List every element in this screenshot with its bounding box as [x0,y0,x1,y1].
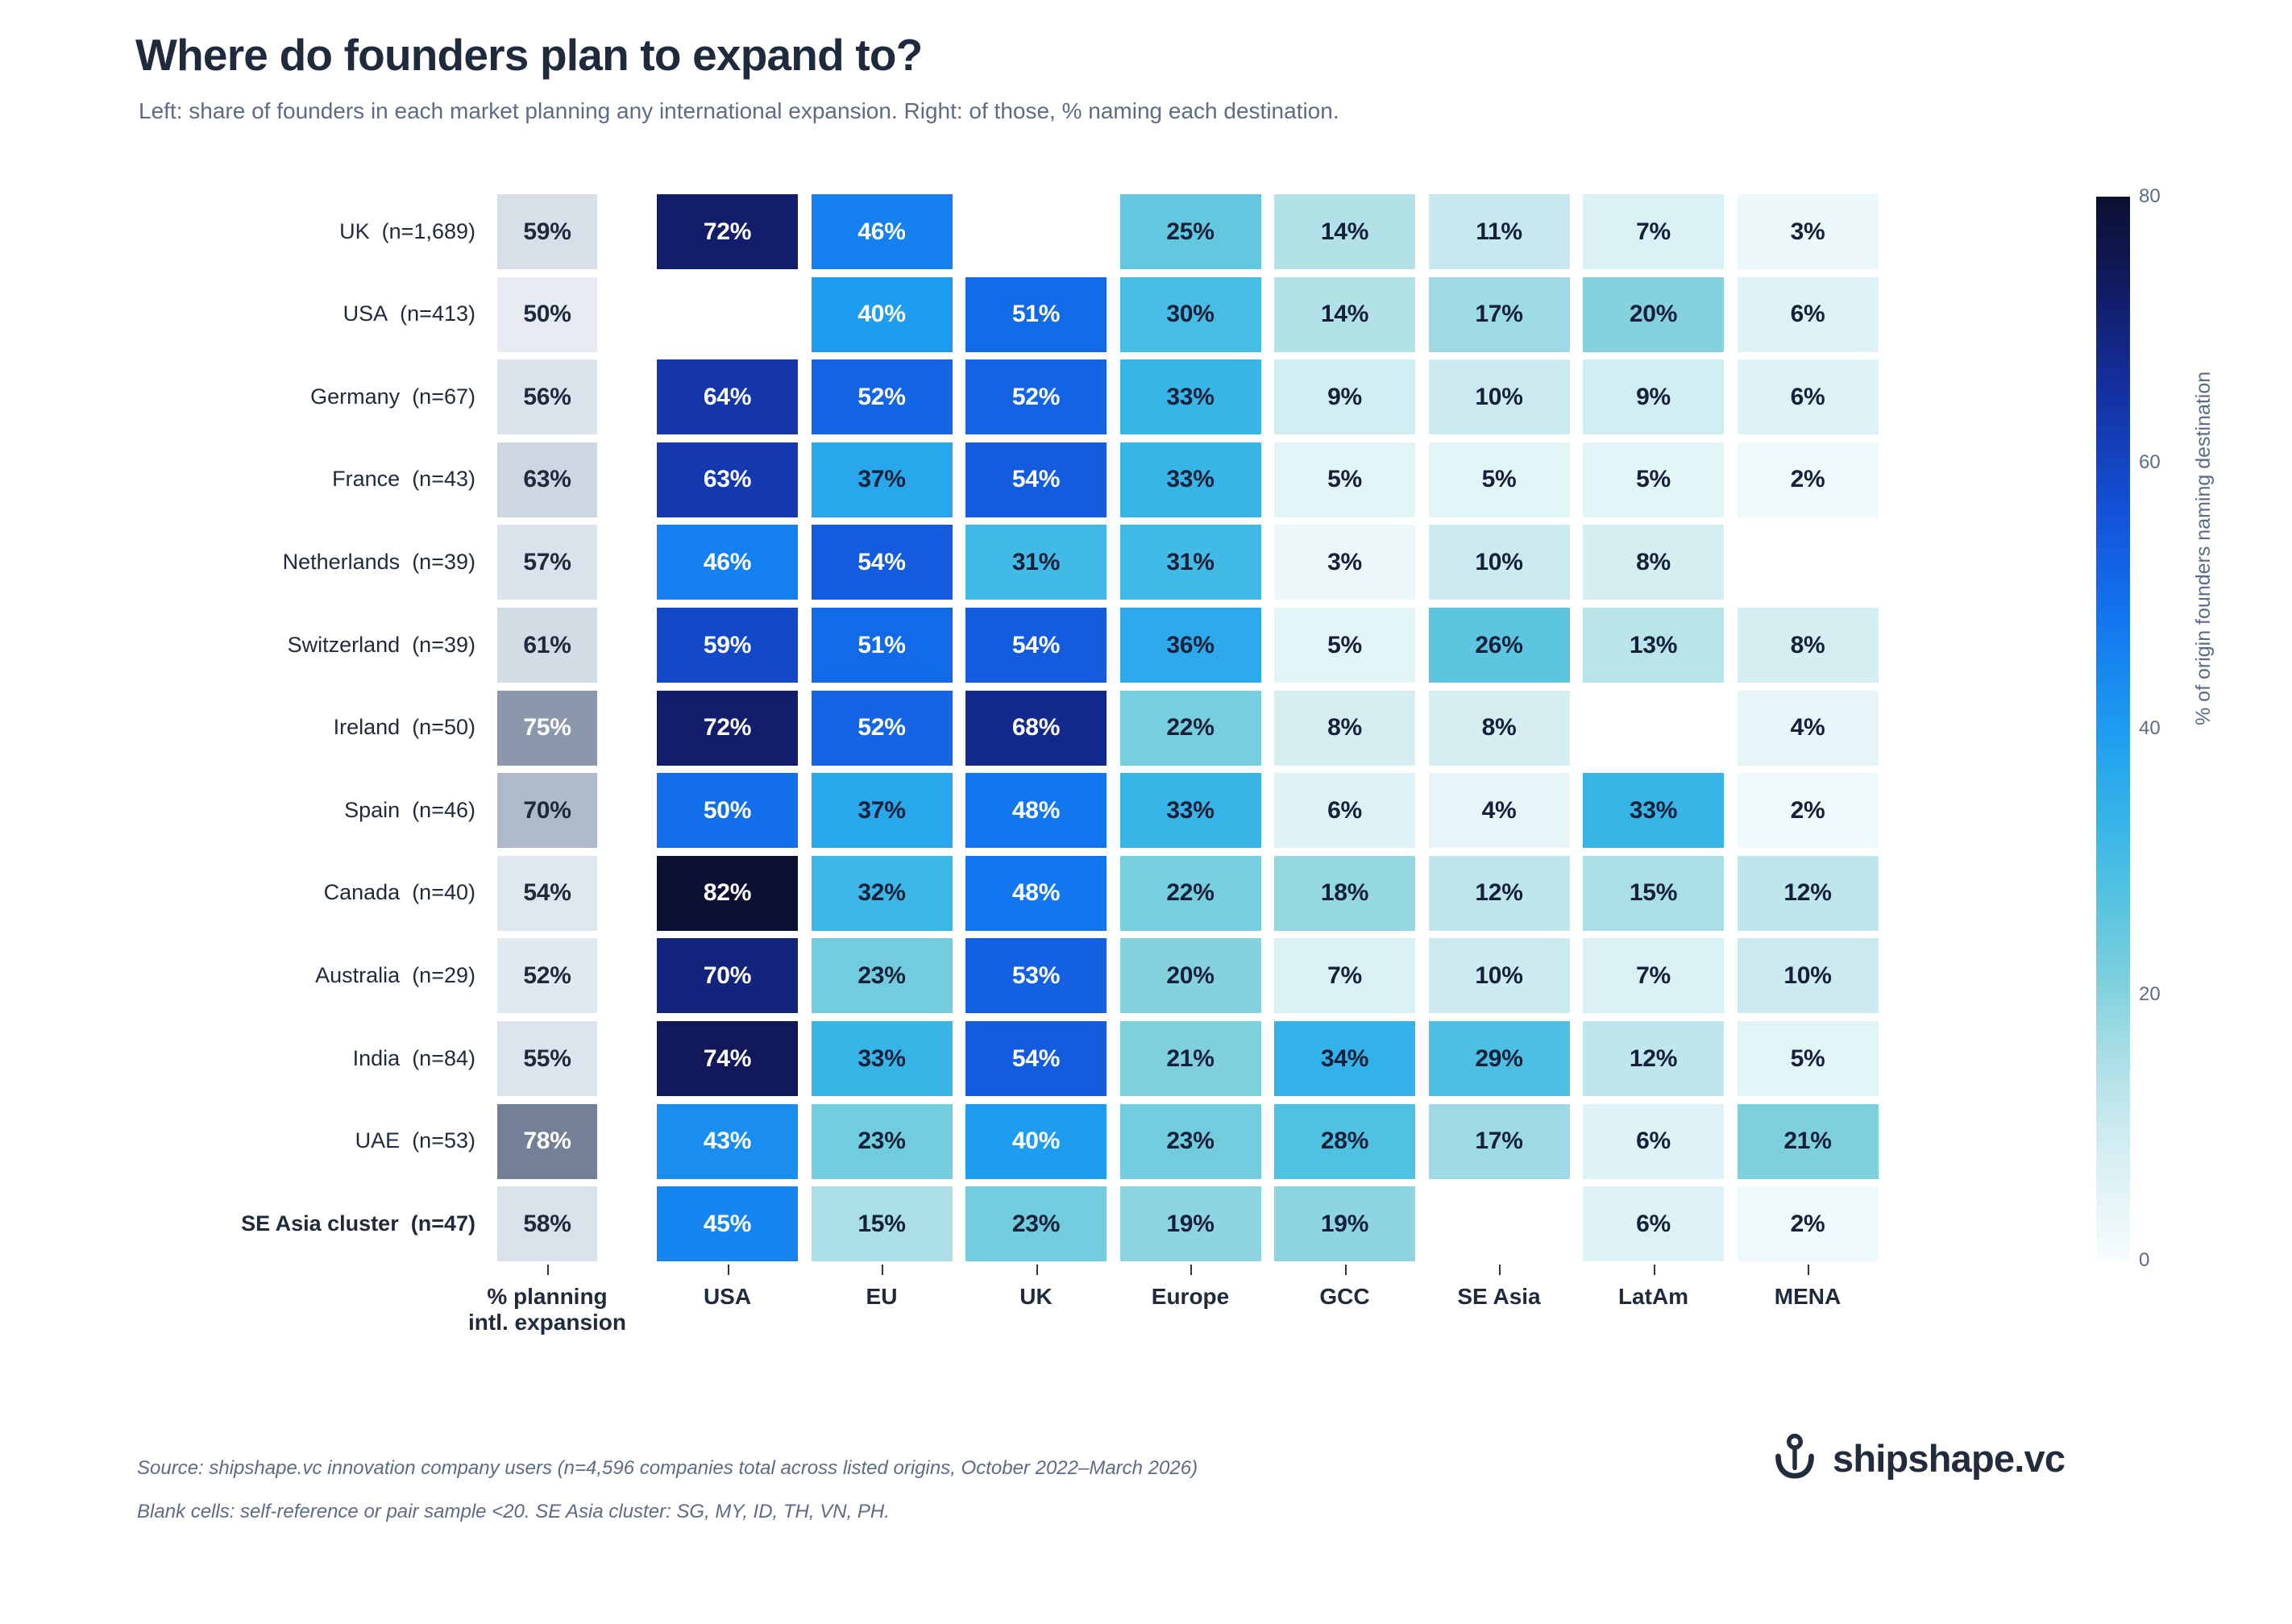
blank-cells-note: Blank cells: self-reference or pair samp… [137,1501,890,1523]
heatmap-cell[interactable]: 19% [1120,1186,1261,1261]
row-origin: Spain [344,798,400,822]
heatmap-cell[interactable]: 22% [1120,856,1261,931]
heatmap-cell[interactable]: 54% [812,525,953,600]
heatmap-cell[interactable]: 18% [1274,856,1415,931]
heatmap-cell-blank[interactable] [1583,691,1724,766]
heatmap-cell[interactable]: 52% [812,359,953,434]
heatmap-cell[interactable]: 4% [1738,691,1879,766]
heatmap-cell[interactable]: 52% [812,691,953,766]
heatmap-cell[interactable]: 17% [1429,277,1570,352]
heatmap-cell[interactable]: 36% [1120,608,1261,683]
heatmap-cell[interactable]: 6% [1583,1104,1724,1179]
column-header-mena: MENA [1711,1284,1904,1309]
heatmap-cell[interactable]: 6% [1738,359,1879,434]
heatmap-cell[interactable]: 64% [657,359,798,434]
axis-tick [547,1265,549,1275]
heatmap-cell[interactable]: 10% [1429,938,1570,1013]
row-sample-size: (n=40) [412,880,475,904]
heatmap-cell[interactable]: 21% [1120,1021,1261,1096]
heatmap-cell[interactable]: 20% [1120,938,1261,1013]
heatmap-cell[interactable]: 12% [1738,856,1879,931]
heatmap-cell[interactable]: 23% [812,1104,953,1179]
heatmap-cell[interactable]: 5% [1429,442,1570,517]
heatmap-cell[interactable]: 30% [1120,277,1261,352]
heatmap-cell[interactable]: 34% [1274,1021,1415,1096]
row-origin: Canada [324,880,401,904]
row-origin: Netherlands [283,550,401,574]
row-sample-size: (n=67) [412,384,475,409]
row-origin: India [353,1046,401,1070]
heatmap-cell[interactable]: 33% [1120,442,1261,517]
row-sample-size: (n=50) [412,715,475,739]
heatmap-cell[interactable]: 7% [1583,938,1724,1013]
colorbar-tick-label: 40 [2139,717,2161,740]
heatmap-cell[interactable]: 74% [657,1021,798,1096]
row-sample-size: (n=47) [411,1211,475,1236]
row-label-india: India (n=84) [97,1048,475,1070]
heatmap-cell[interactable]: 12% [1429,856,1570,931]
row-sample-size: (n=39) [412,550,475,574]
heatmap-cell[interactable]: 20% [1583,277,1724,352]
heatmap-cell[interactable]: 54% [965,442,1107,517]
row-origin: SE Asia cluster [241,1211,399,1236]
heatmap-cell[interactable]: 48% [965,856,1107,931]
heatmap-cell[interactable]: 51% [965,277,1107,352]
row-label-usa: USA (n=413) [97,303,475,325]
heatmap-cell[interactable]: 6% [1738,277,1879,352]
row-label-france: France (n=43) [97,468,475,490]
row-label-ireland: Ireland (n=50) [97,716,475,738]
row-label-spain: Spain (n=46) [97,800,475,821]
heatmap-cell[interactable]: 63% [657,442,798,517]
heatmap-cell-blank[interactable] [965,194,1107,269]
heatmap-cell[interactable]: 2% [1738,773,1879,848]
colorbar-axis-label: % of origin founders naming destination [2192,372,2215,725]
heatmap-cell[interactable]: 32% [812,856,953,931]
planning-cell[interactable]: 55% [497,1021,597,1096]
heatmap-cell[interactable]: 12% [1583,1021,1724,1096]
axis-tick [1190,1265,1192,1275]
heatmap-cell[interactable]: 6% [1274,773,1415,848]
colorbar-tick-label: 80 [2139,185,2161,208]
axis-tick [1654,1265,1655,1275]
heatmap-cell[interactable]: 33% [1120,773,1261,848]
heatmap-cell[interactable]: 37% [812,773,953,848]
heatmap-cell[interactable]: 45% [657,1186,798,1261]
heatmap-cell[interactable]: 43% [657,1104,798,1179]
planning-cell[interactable]: 50% [497,277,597,352]
heatmap-cell[interactable]: 4% [1429,773,1570,848]
heatmap-cell[interactable]: 9% [1583,359,1724,434]
heatmap-cell[interactable]: 15% [812,1186,953,1261]
row-origin: Australia [315,963,400,987]
heatmap-cell[interactable]: 11% [1429,194,1570,269]
row-label-uae: UAE (n=53) [97,1130,475,1152]
heatmap-cell[interactable]: 8% [1429,691,1570,766]
heatmap-cell[interactable]: 72% [657,691,798,766]
axis-tick [728,1265,729,1275]
row-sample-size: (n=43) [412,467,475,491]
row-sample-size: (n=29) [412,963,475,987]
heatmap-cell[interactable]: 59% [657,608,798,683]
heatmap-cell[interactable]: 10% [1738,938,1879,1013]
heatmap-cell[interactable]: 23% [1120,1104,1261,1179]
planning-cell[interactable]: 61% [497,608,597,683]
heatmap-cell[interactable]: 46% [657,525,798,600]
heatmap-cell[interactable]: 8% [1738,608,1879,683]
colorbar-gradient [2096,197,2130,1261]
heatmap-cell[interactable]: 31% [1120,525,1261,600]
row-sample-size: (n=53) [412,1128,475,1153]
heatmap-cell[interactable]: 23% [965,1186,1107,1261]
heatmap-cell[interactable]: 29% [1429,1021,1570,1096]
axis-tick [882,1265,883,1275]
heatmap-cell[interactable]: 68% [965,691,1107,766]
row-label-germany: Germany (n=67) [97,386,475,408]
heatmap-cell[interactable]: 17% [1429,1104,1570,1179]
row-sample-size: (n=84) [412,1046,475,1070]
planning-cell[interactable]: 70% [497,773,597,848]
heatmap-cell[interactable]: 5% [1274,442,1415,517]
heatmap-cell[interactable]: 13% [1583,608,1724,683]
page-title: Where do founders plan to expand to? [135,29,922,81]
heatmap-cell[interactable]: 5% [1274,608,1415,683]
row-sample-size: (n=413) [400,301,475,326]
heatmap-cell[interactable]: 82% [657,856,798,931]
heatmap-cell[interactable]: 21% [1738,1104,1879,1179]
heatmap-cell[interactable]: 3% [1274,525,1415,600]
row-sample-size: (n=39) [412,633,475,657]
planning-cell[interactable]: 54% [497,856,597,931]
heatmap-cell[interactable]: 15% [1583,856,1724,931]
heatmap-cell[interactable]: 2% [1738,442,1879,517]
heatmap-cell[interactable]: 5% [1583,442,1724,517]
heatmap-cell[interactable]: 48% [965,773,1107,848]
colorbar-tick-label: 0 [2139,1249,2149,1272]
colorbar-tick-label: 20 [2139,983,2161,1006]
heatmap-cell[interactable]: 54% [965,1021,1107,1096]
heatmap-cell[interactable]: 52% [965,359,1107,434]
header-line-2: intl. expansion [426,1310,668,1335]
heatmap-cell[interactable]: 28% [1274,1104,1415,1179]
row-origin: UAE [355,1128,401,1153]
heatmap-cell[interactable]: 19% [1274,1186,1415,1261]
heatmap-cell[interactable]: 3% [1738,194,1879,269]
planning-cell[interactable]: 75% [497,691,597,766]
heatmap-cell[interactable]: 40% [965,1104,1107,1179]
heatmap-cell[interactable]: 72% [657,194,798,269]
heatmap-cell[interactable]: 26% [1429,608,1570,683]
planning-cell[interactable]: 58% [497,1186,597,1261]
heatmap-cell[interactable]: 14% [1274,277,1415,352]
heatmap-cell[interactable]: 40% [812,277,953,352]
heatmap-cell[interactable]: 33% [1120,359,1261,434]
planning-cell[interactable]: 57% [497,525,597,600]
heatmap-cell[interactable]: 7% [1583,194,1724,269]
row-sample-size: (n=1,689) [382,219,475,243]
heatmap-cell-blank[interactable] [1429,1186,1570,1261]
heatmap-cell[interactable]: 10% [1429,359,1570,434]
axis-tick [1036,1265,1038,1275]
anchor-icon [1771,1433,1818,1484]
row-origin: Germany [310,384,400,409]
planning-cell[interactable]: 52% [497,938,597,1013]
heatmap-cell[interactable]: 10% [1429,525,1570,600]
heatmap-cell[interactable]: 14% [1274,194,1415,269]
heatmap-cell[interactable]: 33% [812,1021,953,1096]
heatmap-cell[interactable]: 2% [1738,1186,1879,1261]
row-label-switzerland: Switzerland (n=39) [97,634,475,656]
planning-cell[interactable]: 56% [497,359,597,434]
heatmap-cell[interactable]: 50% [657,773,798,848]
axis-tick [1345,1265,1347,1275]
heatmap-cell[interactable]: 5% [1738,1021,1879,1096]
row-label-uk: UK (n=1,689) [97,221,475,243]
row-label-netherlands: Netherlands (n=39) [97,551,475,573]
axis-tick [1499,1265,1501,1275]
heatmap-cell[interactable]: 6% [1583,1186,1724,1261]
row-origin: Switzerland [288,633,401,657]
row-origin: France [332,467,400,491]
heatmap-cell[interactable]: 7% [1274,938,1415,1013]
heatmap-cell[interactable]: 33% [1583,773,1724,848]
colorbar-tick-label: 60 [2139,451,2161,474]
row-label-se-asia-cluster: SE Asia cluster (n=47) [97,1213,475,1235]
planning-cell[interactable]: 78% [497,1104,597,1179]
heatmap-cell[interactable]: 8% [1274,691,1415,766]
brand-logo: shipshape.vc [1771,1433,2065,1484]
heatmap-cell[interactable]: 54% [965,608,1107,683]
chart-page: Where do founders plan to expand to? Lef… [0,0,2292,1624]
planning-cell[interactable]: 59% [497,194,597,269]
heatmap-cell[interactable]: 37% [812,442,953,517]
heatmap-cell[interactable]: 53% [965,938,1107,1013]
heatmap-cell[interactable]: 8% [1583,525,1724,600]
heatmap-cell[interactable]: 25% [1120,194,1261,269]
heatmap-cell[interactable]: 70% [657,938,798,1013]
heatmap-cell[interactable]: 46% [812,194,953,269]
row-sample-size: (n=46) [412,798,475,822]
heatmap-cell[interactable]: 9% [1274,359,1415,434]
axis-tick [1808,1265,1809,1275]
page-subtitle: Left: share of founders in each market p… [139,98,1339,124]
brand-name: shipshape.vc [1833,1436,2065,1481]
heatmap-cell[interactable]: 51% [812,608,953,683]
heatmap-cell[interactable]: 31% [965,525,1107,600]
row-origin: Ireland [334,715,401,739]
row-label-australia: Australia (n=29) [97,965,475,986]
heatmap-cell-blank[interactable] [1738,525,1879,600]
planning-cell[interactable]: 63% [497,442,597,517]
row-origin: USA [343,301,388,326]
heatmap-cell-blank[interactable] [657,277,798,352]
row-label-canada: Canada (n=40) [97,882,475,903]
heatmap-cell[interactable]: 23% [812,938,953,1013]
row-origin: UK [339,219,370,243]
source-note: Source: shipshape.vc innovation company … [137,1457,1198,1480]
heatmap-cell[interactable]: 22% [1120,691,1261,766]
